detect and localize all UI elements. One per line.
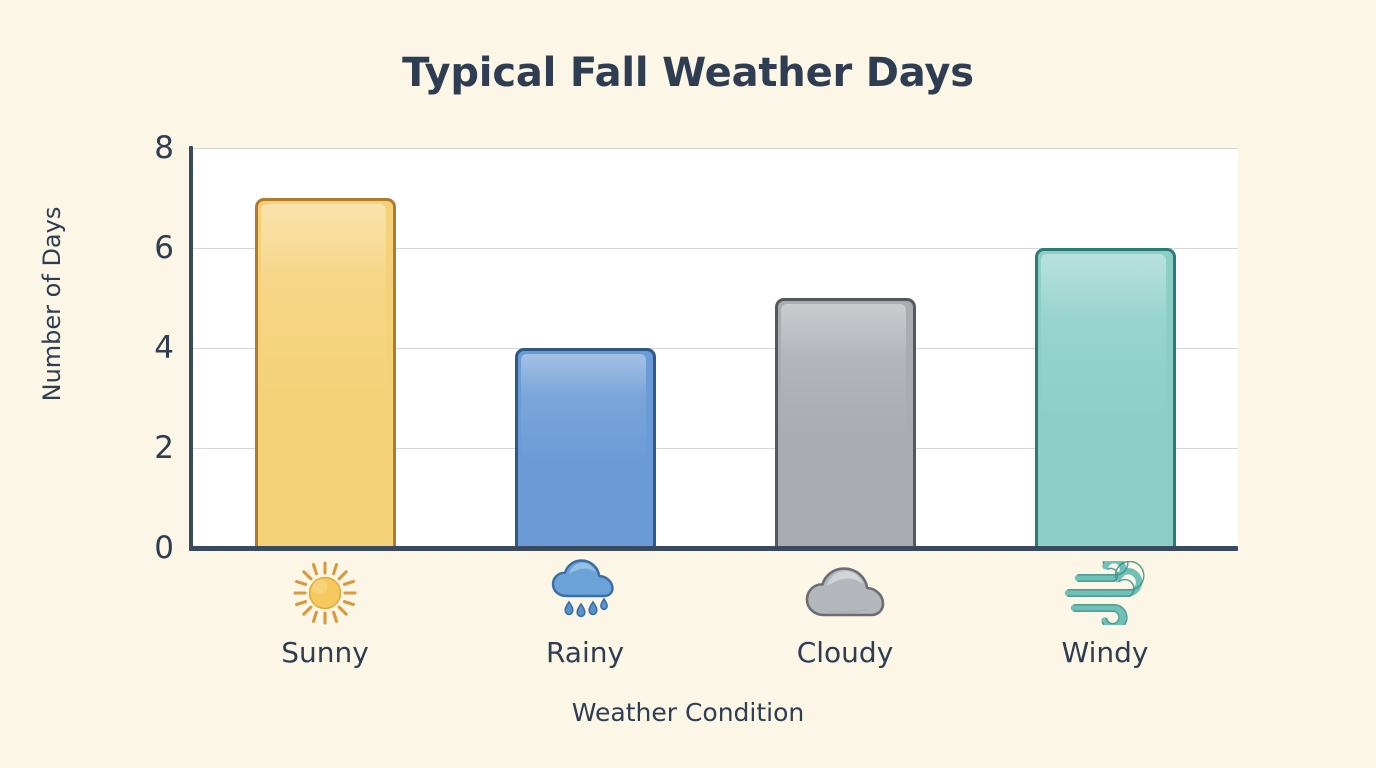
y-tick-6: 6 [130, 230, 174, 266]
cloud-icon [745, 556, 945, 630]
bar-chart-figure: Typical Fall Weather Days 8 6 4 2 0 Numb… [0, 0, 1376, 768]
y-tick-8: 8 [130, 130, 174, 166]
x-label-rainy: Rainy [485, 636, 685, 669]
x-label-sunny: Sunny [225, 636, 425, 669]
y-tick-0: 0 [130, 530, 174, 566]
x-label-windy: Windy [1005, 636, 1205, 669]
y-axis-title: Number of Days [38, 189, 66, 419]
x-category-rainy: Rainy [485, 556, 685, 669]
x-label-cloudy: Cloudy [745, 636, 945, 669]
bar-windy[interactable] [1035, 248, 1176, 549]
bar-cloudy[interactable] [775, 298, 916, 549]
y-axis-spine [189, 146, 193, 551]
x-category-cloudy: Cloudy [745, 556, 945, 669]
plot-area [192, 148, 1238, 549]
bar-rainy[interactable] [515, 348, 656, 549]
wind-icon [1005, 556, 1205, 630]
rain-cloud-icon [485, 556, 685, 630]
y-tick-4: 4 [130, 330, 174, 366]
y-tick-2: 2 [130, 430, 174, 466]
x-axis-title: Weather Condition [0, 698, 1376, 727]
gridline-8 [192, 148, 1238, 149]
x-category-windy: Windy [1005, 556, 1205, 669]
chart-title: Typical Fall Weather Days [0, 50, 1376, 96]
x-category-sunny: Sunny [225, 556, 425, 669]
x-axis-spine [189, 546, 1238, 551]
y-axis-tick-labels: 8 6 4 2 0 [108, 0, 174, 768]
bar-sunny[interactable] [255, 198, 396, 549]
sun-icon [225, 556, 425, 630]
